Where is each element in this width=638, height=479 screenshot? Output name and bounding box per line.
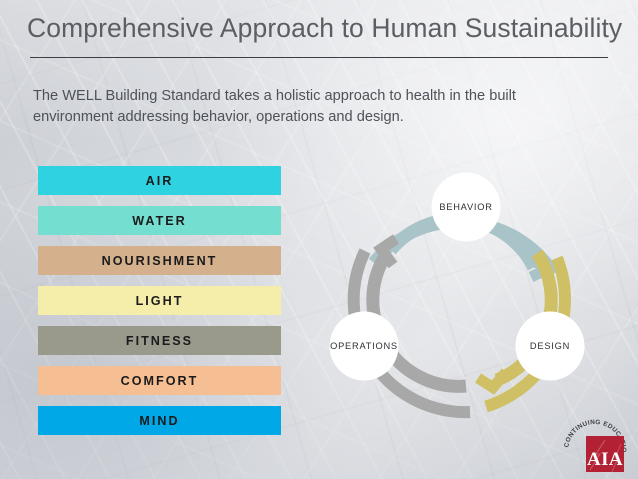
concept-bar-label: NOURISHMENT: [102, 254, 218, 268]
concept-bar-nourishment: NOURISHMENT: [38, 246, 281, 275]
concept-bar-label: WATER: [132, 214, 187, 228]
cycle-node-behavior[interactable]: BEHAVIOR: [432, 173, 501, 242]
cycle-diagram: BEHAVIOR DESIGN OPERATIONS: [318, 150, 618, 440]
aia-logo-text: AIA: [587, 449, 623, 470]
concept-bar-mind: MIND: [38, 406, 281, 435]
cycle-node-label: BEHAVIOR: [439, 202, 492, 212]
cycle-node-label: DESIGN: [530, 341, 570, 351]
cycle-node-label: OPERATIONS: [330, 341, 398, 351]
concept-bar-air: AIR: [38, 166, 281, 195]
slide-canvas: Comprehensive Approach to Human Sustaina…: [0, 0, 638, 479]
concept-bar-list: AIR WATER NOURISHMENT LIGHT FITNESS COMF…: [38, 166, 281, 435]
concept-bar-water: WATER: [38, 206, 281, 235]
concept-bar-fitness: FITNESS: [38, 326, 281, 355]
title-divider: [30, 57, 608, 58]
page-title: Comprehensive Approach to Human Sustaina…: [27, 11, 617, 45]
concept-bar-label: FITNESS: [126, 334, 193, 348]
concept-bar-label: MIND: [139, 414, 179, 428]
concept-bar-label: COMFORT: [121, 374, 199, 388]
cycle-node-design[interactable]: DESIGN: [516, 312, 585, 381]
concept-bar-label: LIGHT: [136, 294, 184, 308]
concept-bar-label: AIR: [146, 174, 174, 188]
concept-bar-light: LIGHT: [38, 286, 281, 315]
aia-logo-mark: AIA: [586, 436, 624, 472]
concept-bar-comfort: COMFORT: [38, 366, 281, 395]
aia-continuing-education-badge: CONTINUING EDUCATION AIA: [560, 410, 630, 476]
cycle-node-operations[interactable]: OPERATIONS: [330, 312, 399, 381]
intro-paragraph: The WELL Building Standard takes a holis…: [33, 86, 579, 128]
